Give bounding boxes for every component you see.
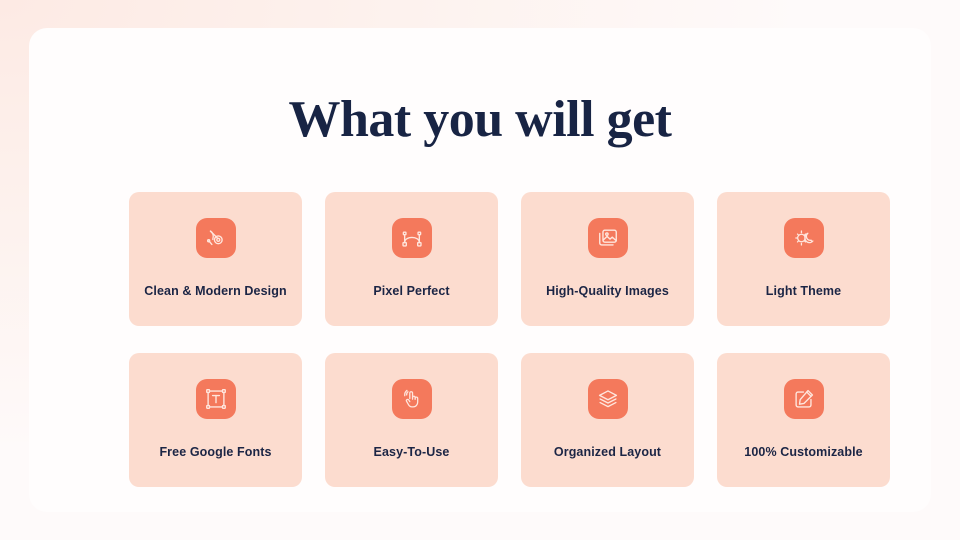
feature-card[interactable]: 100% Customizable (717, 353, 890, 487)
feature-card[interactable]: Clean & Modern Design (129, 192, 302, 326)
feature-card-label: Easy-To-Use (374, 445, 450, 460)
text-box-icon (196, 379, 236, 419)
feature-card[interactable]: Light Theme (717, 192, 890, 326)
feature-card-label: Pixel Perfect (373, 284, 449, 299)
feature-card-label: Light Theme (766, 284, 841, 299)
slide-canvas: What you will get Clean & Modern Design (0, 0, 960, 540)
feature-card-label: Free Google Fonts (159, 445, 271, 460)
sun-moon-icon (784, 218, 824, 258)
feature-card[interactable]: Organized Layout (521, 353, 694, 487)
feature-card-label: Clean & Modern Design (144, 284, 286, 299)
bezier-curve-icon (392, 218, 432, 258)
feature-card-label: 100% Customizable (744, 445, 862, 460)
tap-hand-icon (392, 379, 432, 419)
pen-tool-icon (196, 218, 236, 258)
image-icon (588, 218, 628, 258)
feature-card-label: Organized Layout (554, 445, 661, 460)
feature-card[interactable]: Pixel Perfect (325, 192, 498, 326)
feature-card[interactable]: Free Google Fonts (129, 353, 302, 487)
feature-card-grid: Clean & Modern Design Pixel Perfect (129, 192, 889, 487)
page-title: What you will get (29, 94, 931, 146)
feature-card[interactable]: High-Quality Images (521, 192, 694, 326)
feature-card-label: High-Quality Images (546, 284, 669, 299)
feature-card[interactable]: Easy-To-Use (325, 353, 498, 487)
content-panel: What you will get Clean & Modern Design (29, 28, 931, 512)
layers-icon (588, 379, 628, 419)
edit-square-icon (784, 379, 824, 419)
